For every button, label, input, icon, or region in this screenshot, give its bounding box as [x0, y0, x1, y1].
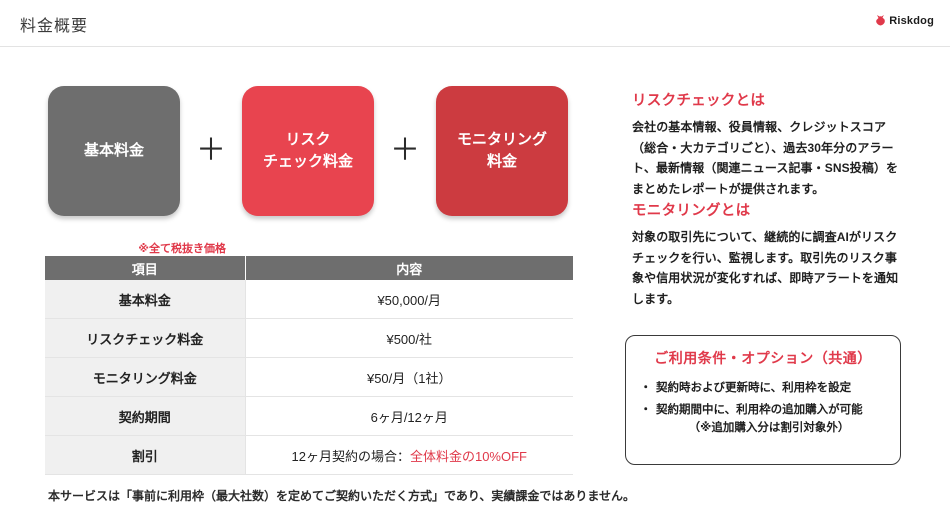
list-item: ・ 契約時および更新時に、利用枠を設定	[636, 380, 890, 398]
footer-note: 本サービスは「事前に利用枠（最大社数）を定めてご契約いただく方式」であり、実績課…	[48, 487, 635, 504]
table-row: 割引 12ヶ月契約の場合：全体料金の10%OFF	[45, 436, 573, 475]
table-header-item: 項目	[45, 256, 245, 280]
fee-card-group: 基本料金 ＋ リスクチェック料金 ＋ モニタリング料金	[48, 86, 568, 216]
table-row: リスクチェック料金 ¥500/社	[45, 319, 573, 358]
table-row: モニタリング料金 ¥50/月（1社）	[45, 358, 573, 397]
brand-name: Riskdog	[889, 15, 934, 27]
discount-prefix: 12ヶ月契約の場合：	[292, 449, 410, 464]
tax-note: ※全て税抜き価格	[138, 240, 226, 256]
table-cell-value: ¥50/月（1社）	[245, 358, 573, 397]
section-monitoring-title: モニタリングとは	[632, 199, 900, 220]
plus-sign-2: ＋	[374, 136, 436, 166]
left-column: 基本料金 ＋ リスクチェック料金 ＋ モニタリング料金 ※全て税抜き価格 項目 …	[0, 47, 600, 514]
table-header-content: 内容	[245, 256, 573, 280]
table-row: 基本料金 ¥50,000/月	[45, 280, 573, 319]
section-risk-check-body: 会社の基本情報、役員情報、クレジットスコア（総合・大カテゴリごと）、過去30年分…	[632, 117, 900, 200]
table-header-row: 項目 内容	[45, 256, 573, 280]
card-monitoring-fee: モニタリング料金	[436, 86, 568, 216]
table-cell-value: ¥500/社	[245, 319, 573, 358]
card-base-fee: 基本料金	[48, 86, 180, 216]
table-row: 契約期間 6ヶ月/12ヶ月	[45, 397, 573, 436]
right-column: リスクチェックとは 会社の基本情報、役員情報、クレジットスコア（総合・大カテゴリ…	[620, 47, 950, 514]
card-risk-check-fee: リスクチェック料金	[242, 86, 374, 216]
list-item: ・ 契約期間中に、利用枠の追加購入が可能 （※追加購入分は割引対象外）	[636, 402, 890, 438]
table-cell-item: 契約期間	[45, 397, 245, 436]
card-monitoring-fee-label: モニタリング料金	[457, 129, 547, 173]
option-box-title: ご利用条件・オプション（共通）	[636, 348, 890, 368]
section-risk-check: リスクチェックとは 会社の基本情報、役員情報、クレジットスコア（総合・大カテゴリ…	[632, 89, 900, 216]
table-cell-value: 6ヶ月/12ヶ月	[245, 397, 573, 436]
table-cell-item: モニタリング料金	[45, 358, 245, 397]
riskdog-logo-icon	[875, 14, 886, 27]
pricing-table: 項目 内容 基本料金 ¥50,000/月 リスクチェック料金 ¥500/社 モニ…	[45, 256, 573, 475]
app-header: 料金概要 Riskdog	[0, 0, 950, 47]
table-cell-item: 割引	[45, 436, 245, 475]
section-monitoring-body: 対象の取引先について、継続的に調査AIがリスクチェックを行い、監視します。取引先…	[632, 227, 900, 310]
table-cell-value: ¥50,000/月	[245, 280, 573, 319]
section-monitoring: モニタリングとは 対象の取引先について、継続的に調査AIがリスクチェックを行い、…	[632, 199, 900, 326]
page-title: 料金概要	[20, 12, 88, 36]
card-base-fee-label: 基本料金	[84, 140, 144, 162]
list-item-label: 契約期間中に、利用枠の追加購入が可能	[656, 404, 863, 416]
option-conditions-box: ご利用条件・オプション（共通） ・ 契約時および更新時に、利用枠を設定 ・ 契約…	[625, 335, 901, 465]
discount-highlight: 全体料金の10%OFF	[410, 449, 527, 464]
table-cell-item: リスクチェック料金	[45, 319, 245, 358]
card-risk-check-fee-label: リスクチェック料金	[263, 129, 353, 173]
plus-sign-1: ＋	[180, 136, 242, 166]
bullet-icon: ・	[640, 402, 652, 420]
bullet-icon: ・	[640, 380, 652, 398]
table-cell-value: 12ヶ月契約の場合：全体料金の10%OFF	[245, 436, 573, 475]
option-list: ・ 契約時および更新時に、利用枠を設定 ・ 契約期間中に、利用枠の追加購入が可能…	[636, 380, 890, 437]
brand-logo: Riskdog	[875, 14, 934, 27]
list-item-label: 契約時および更新時に、利用枠を設定	[656, 382, 851, 394]
section-risk-check-title: リスクチェックとは	[632, 89, 900, 110]
list-item-subnote: （※追加購入分は割引対象外）	[648, 420, 890, 438]
table-cell-item: 基本料金	[45, 280, 245, 319]
